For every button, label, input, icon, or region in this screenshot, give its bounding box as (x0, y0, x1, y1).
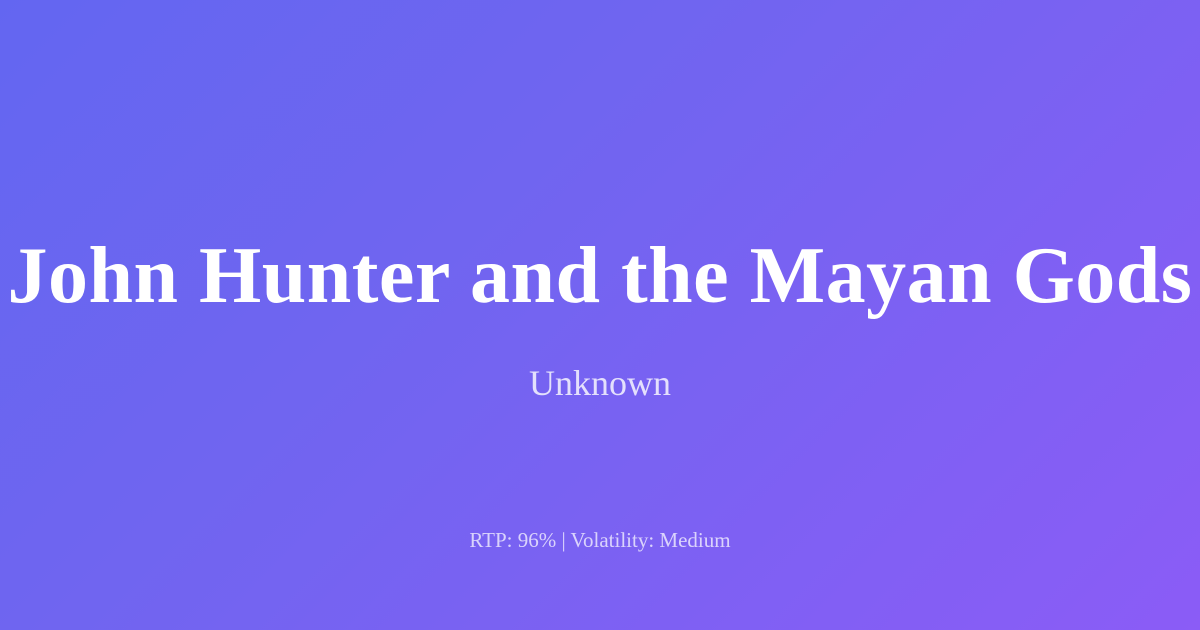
og-share-card: John Hunter and the Mayan Gods Unknown R… (0, 0, 1200, 630)
meta-container: RTP: 96% | Volatility: Medium (0, 527, 1200, 554)
page-title: John Hunter and the Mayan Gods (8, 236, 1193, 316)
subtitle-container: Unknown (0, 362, 1200, 405)
title-container: John Hunter and the Mayan Gods (0, 228, 1200, 324)
game-stats-line: RTP: 96% | Volatility: Medium (0, 527, 1200, 554)
provider-subtitle: Unknown (0, 362, 1200, 405)
